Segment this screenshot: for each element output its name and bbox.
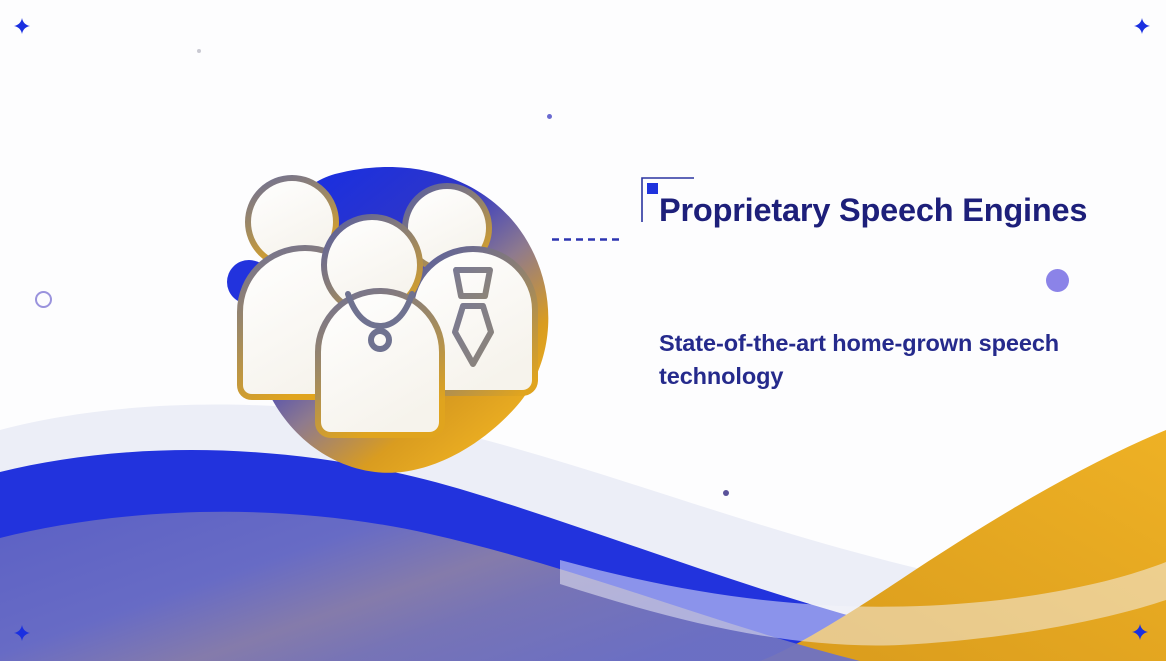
corner-square-accent — [647, 183, 658, 194]
person-body-front — [318, 291, 442, 435]
page-subtitle: State-of-the-art home-grown speech techn… — [659, 327, 1089, 394]
group-of-people-icon — [215, 160, 565, 490]
slide-canvas: Proprietary Speech Engines State-of-the-… — [0, 0, 1166, 661]
circle-outline-left — [35, 291, 52, 308]
dot-blue-small — [547, 114, 552, 119]
dot-grey-small — [197, 49, 201, 53]
sparkle-bottom-right — [1132, 624, 1148, 640]
dot-purple-small — [723, 490, 729, 496]
dashed-connector — [552, 238, 620, 241]
page-title: Proprietary Speech Engines — [659, 193, 1087, 229]
sparkle-bottom-left — [14, 625, 30, 641]
circle-filled-purple — [1046, 269, 1069, 292]
sparkle-top-left — [14, 18, 30, 34]
sparkle-top-right — [1134, 18, 1150, 34]
